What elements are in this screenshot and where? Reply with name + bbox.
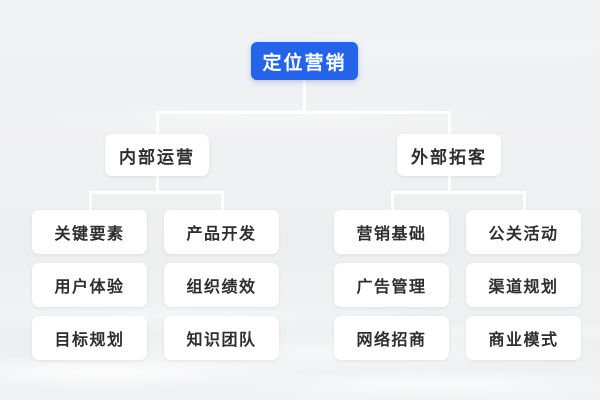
connector-root-stem [303,79,306,111]
node-leaf-user-experience[interactable]: 用户体验 [32,263,147,307]
diagram-canvas: 定位营销 内部运营 外部拓客 关键要素 用户体验 目标规划 产品开发 组织绩效 … [0,0,600,400]
node-branch-external-acquisition[interactable]: 外部拓客 [397,134,501,176]
node-leaf-knowledge-team[interactable]: 知识团队 [164,316,279,360]
node-leaf-product-development[interactable]: 产品开发 [164,210,279,254]
node-leaf-marketing-fundamentals[interactable]: 营销基础 [334,210,449,254]
connector-branch-right-col1 [391,191,394,211]
node-leaf-channel-planning[interactable]: 渠道规划 [466,263,581,307]
node-leaf-organizational-performance[interactable]: 组织绩效 [164,263,279,307]
node-leaf-business-model[interactable]: 商业模式 [466,316,581,360]
node-leaf-key-elements[interactable]: 关键要素 [32,210,147,254]
node-root[interactable]: 定位营销 [251,42,358,80]
node-branch-internal-operations[interactable]: 内部运营 [105,134,209,176]
connector-branch-right-span [391,191,526,194]
connector-branch-left-col2 [221,191,224,211]
node-leaf-advertising-management[interactable]: 广告管理 [334,263,449,307]
node-leaf-goal-planning[interactable]: 目标规划 [32,316,147,360]
connector-root-span [156,111,451,114]
connector-branch-left-col1 [89,191,92,211]
node-leaf-pr-activities[interactable]: 公关活动 [466,210,581,254]
connector-branch-right-col2 [523,191,526,211]
node-leaf-online-investment-promotion[interactable]: 网络招商 [334,316,449,360]
connector-branch-left-span [89,191,224,194]
